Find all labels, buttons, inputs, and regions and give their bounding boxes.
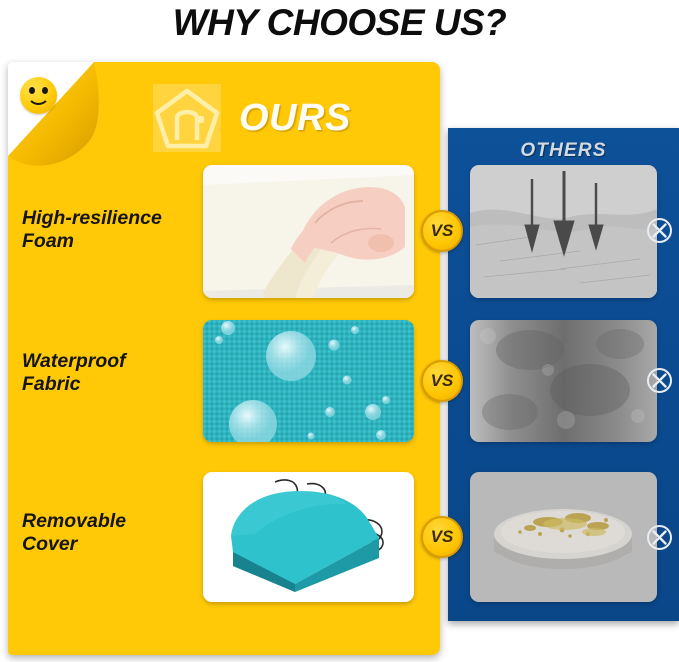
feature-label-foam-line1: High-resilience <box>22 207 197 230</box>
others-image-cover <box>470 472 657 602</box>
circle-x-icon-cover <box>646 524 673 551</box>
why-choose-us-comparison-poster: WHY CHOOSE US? OTHERS <box>0 0 679 662</box>
vs-badge-cover: VS <box>421 516 463 558</box>
house-chair-icon <box>151 82 223 154</box>
hand-pinching-foam-illustration <box>203 165 414 298</box>
comparison-row-fabric: Waterproof Fabric <box>0 320 679 445</box>
others-panel-title: OTHERS <box>448 140 679 162</box>
feature-label-cover-line2: Cover <box>22 533 197 556</box>
ours-image-fabric <box>203 320 414 442</box>
compressed-padding-illustration <box>470 165 657 298</box>
circle-x-icon-foam <box>646 217 673 244</box>
feature-label-fabric: Waterproof Fabric <box>22 350 197 396</box>
soaked-gray-fabric-illustration <box>470 320 657 442</box>
comparison-row-cover: Removable Cover VS <box>0 472 679 607</box>
page-title: WHY CHOOSE US? <box>0 2 679 44</box>
ours-image-foam <box>203 165 414 298</box>
feature-label-fabric-line1: Waterproof <box>22 350 197 373</box>
feature-label-cover-line1: Removable <box>22 510 197 533</box>
waterproof-fabric-droplets-illustration <box>203 320 414 442</box>
ours-header: OURS <box>151 82 351 154</box>
feature-label-fabric-line2: Fabric <box>22 373 197 396</box>
feature-label-cover: Removable Cover <box>22 510 197 556</box>
comparison-row-foam: High-resilience Foam VS <box>0 165 679 302</box>
circle-x-icon-fabric <box>646 367 673 394</box>
vs-badge-foam: VS <box>421 210 463 252</box>
stained-gray-cushion-illustration <box>470 472 657 602</box>
feature-label-foam-line2: Foam <box>22 230 197 253</box>
smiley-mouth <box>27 91 50 105</box>
feature-label-foam: High-resilience Foam <box>22 207 197 253</box>
others-image-fabric <box>470 320 657 442</box>
teal-cushion-with-ties-illustration <box>203 472 414 602</box>
vs-badge-fabric: VS <box>421 360 463 402</box>
smiley-face-icon <box>20 77 57 114</box>
ours-image-cover <box>203 472 414 602</box>
others-image-foam <box>470 165 657 298</box>
ours-panel-title: OURS <box>239 97 351 140</box>
